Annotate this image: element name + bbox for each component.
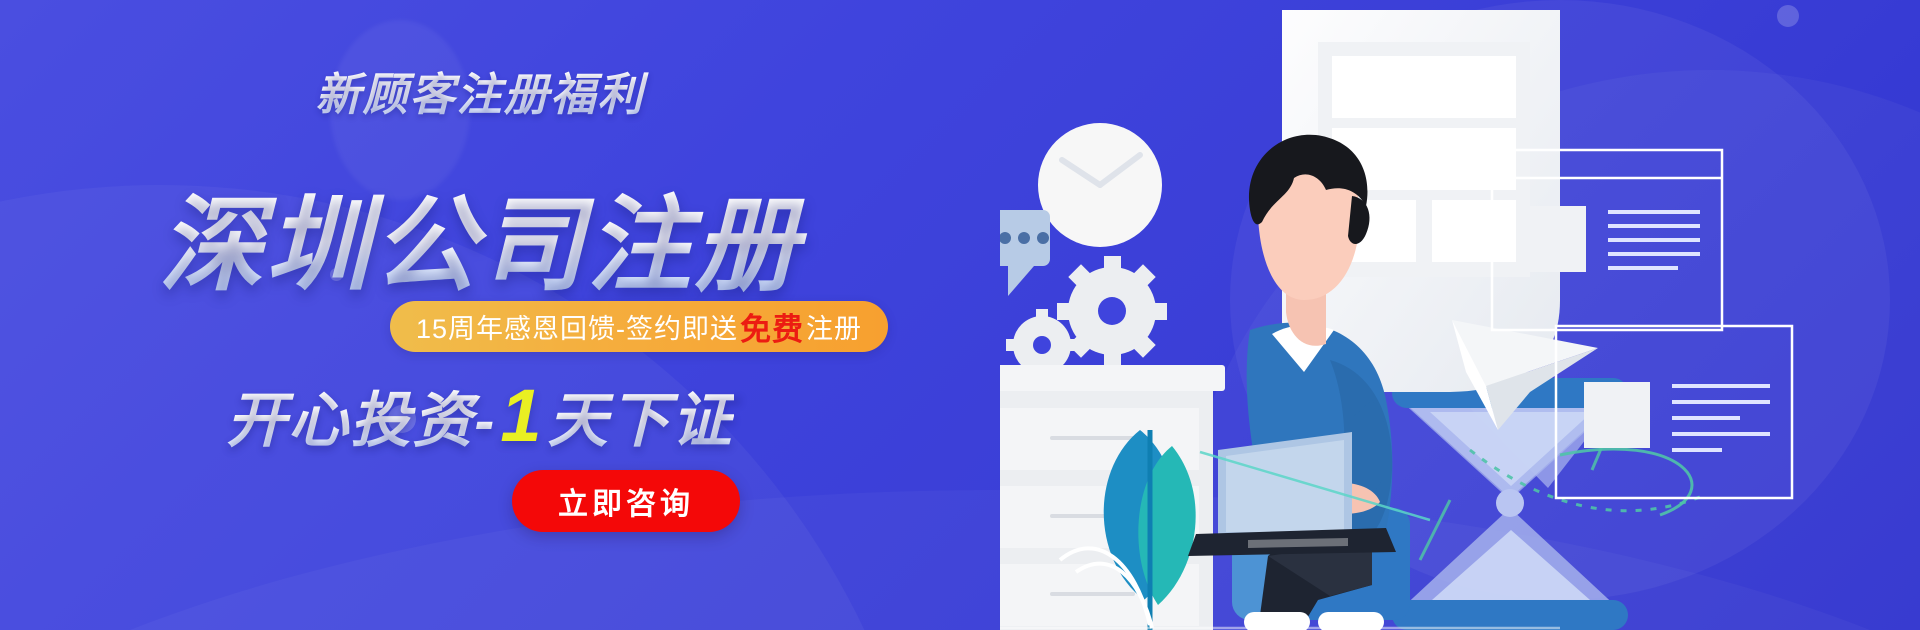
subline-before: 开心投资- (226, 387, 496, 454)
page-title: 深圳公司注册 (0, 190, 960, 302)
hourglass-bottom-bar (1392, 600, 1628, 630)
promo-banner: 新顾客注册福利 深圳公司注册 15周年感恩回馈-签约即送 免费 注册 开心投资-… (0, 0, 1920, 630)
text-content-column: 新顾客注册福利 深圳公司注册 15周年感恩回馈-签约即送 免费 注册 开心投资-… (0, 0, 960, 630)
promo-badge: 15周年感恩回馈-签约即送 免费 注册 (390, 301, 888, 352)
consult-now-button[interactable]: 立即咨询 (512, 470, 740, 532)
chat-bubble-icon (1000, 210, 1050, 296)
sub-headline: 开心投资-1天下证 (0, 372, 960, 459)
promo-prefix: 15周年感恩回馈-签约即送 (416, 307, 738, 346)
wall-clock-icon (1038, 123, 1162, 247)
promo-suffix: 注册 (806, 307, 862, 346)
promo-highlight: 免费 (738, 304, 806, 349)
subline-number: 1 (496, 374, 547, 457)
hero-illustration (1000, 0, 1920, 630)
eyebrow-text: 新顾客注册福利 (0, 58, 960, 123)
subline-after: 天下证 (548, 387, 734, 454)
